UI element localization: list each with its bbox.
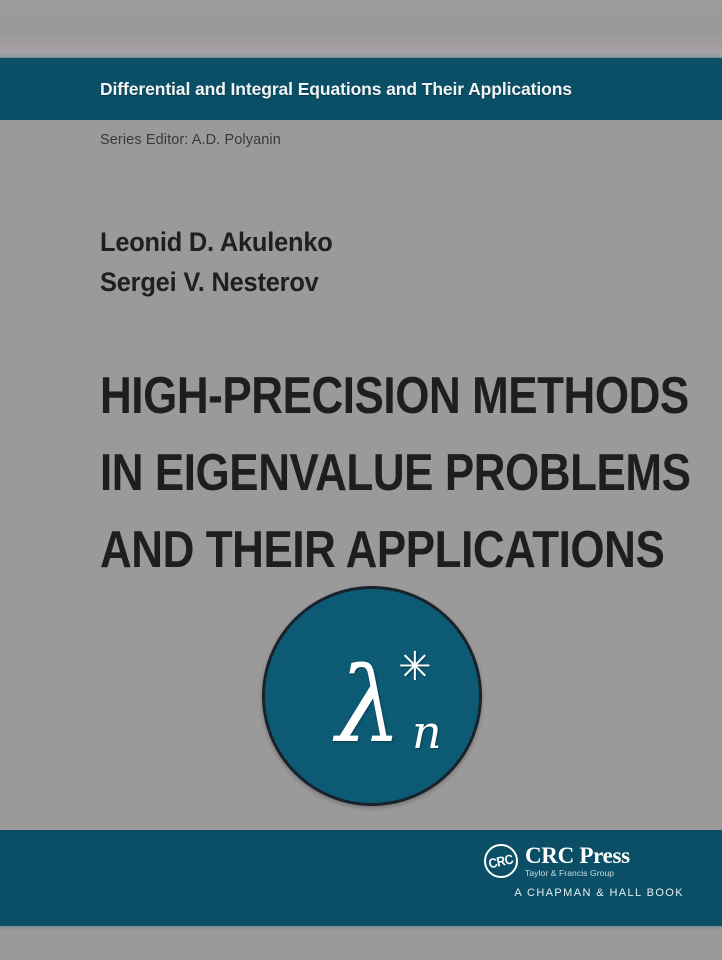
lambda-emblem-formula: λ ✳ n	[265, 589, 485, 809]
author-name-1: Leonid D. Akulenko	[100, 222, 626, 262]
crc-roundel-label: CRC	[487, 851, 514, 871]
lambda-emblem-circle: λ ✳ n	[262, 586, 482, 806]
lambda-icon: λ	[336, 653, 402, 757]
title-line-3: AND THEIR APPLICATIONS	[100, 512, 607, 589]
crc-wordmark: CRC Press Taylor & Francis Group	[525, 844, 630, 878]
series-title: Differential and Integral Equations and …	[100, 79, 572, 100]
bottom-paper-gradient	[0, 926, 722, 960]
crc-press-logo: CRC CRC Press Taylor & Francis Group A C…	[484, 844, 684, 899]
title-line-2: IN EIGENVALUE PROBLEMS	[100, 435, 607, 512]
crc-roundel-icon: CRC	[484, 844, 518, 878]
crc-logo-row: CRC CRC Press Taylor & Francis Group	[484, 844, 684, 878]
publisher-group: Taylor & Francis Group	[525, 869, 630, 878]
author-list: Leonid D. Akulenko Sergei V. Nesterov	[100, 222, 660, 302]
top-paper-gradient	[0, 0, 722, 58]
imprint-label: A CHAPMAN & HALL BOOK	[484, 887, 684, 899]
lambda-emblem-inner: λ ✳ n	[336, 653, 402, 757]
series-banner: Differential and Integral Equations and …	[0, 58, 722, 120]
publisher-banner: CRC CRC Press Taylor & Francis Group A C…	[0, 830, 722, 926]
publisher-name: CRC Press	[525, 844, 630, 867]
author-name-2: Sergei V. Nesterov	[100, 262, 626, 302]
page-title: HIGH-PRECISION METHODS IN EIGENVALUE PRO…	[100, 358, 700, 589]
subscript-n-label: n	[412, 709, 442, 755]
asterisk-icon: ✳	[398, 647, 432, 687]
book-cover: Differential and Integral Equations and …	[0, 0, 722, 960]
title-line-1: HIGH-PRECISION METHODS	[100, 358, 607, 435]
series-editor-line: Series Editor: A.D. Polyanin	[100, 132, 281, 148]
